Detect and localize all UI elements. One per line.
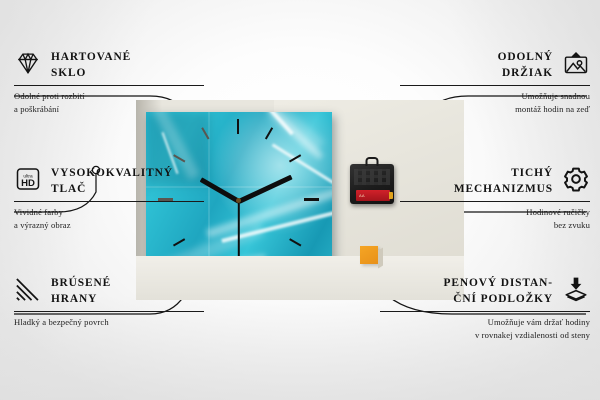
- feature-rule: [14, 311, 204, 312]
- picture-hanger-icon: [562, 49, 590, 77]
- feature-rule: [400, 201, 590, 202]
- feature-durable-hanger: ODOLNÝ DRŽIAK Umožňuje snadnou montáž ho…: [400, 48, 590, 116]
- feature-foam-spacers: PENOVÝ DISTAN- ČNÍ PODLOŽKY Umožňuje vám…: [380, 274, 590, 342]
- feature-rule: [14, 201, 204, 202]
- feature-title: PENOVÝ DISTAN- ČNÍ PODLOŽKY: [443, 274, 553, 307]
- feature-title: TICHÝ MECHANIZMUS: [454, 164, 553, 197]
- feature-high-quality-print: ultra HD VYSOKOKVALITNÝ TLAČ Vividné far…: [14, 164, 204, 232]
- feature-desc: Umožňuje vám držať hodiny v rovnakej vzd…: [380, 316, 590, 342]
- feature-silent-mechanism: TICHÝ MECHANIZMUS Hodinové ručičky bez z…: [400, 164, 590, 232]
- gear-icon: [562, 165, 590, 193]
- feature-desc: Hodinové ručičky bez zvuku: [400, 206, 590, 232]
- hand-pin: [236, 198, 241, 203]
- feature-brushed-edges: BRÚSENÉ HRANY Hladký a bezpečný povrch: [14, 274, 204, 329]
- foam-spacer-icon: [562, 275, 590, 303]
- foam-spacer-pad: [360, 246, 378, 264]
- battery-terminal: [389, 192, 393, 199]
- infographic-canvas: AA HARTOVANÉ SKLO Odolné proti rozbití a…: [0, 0, 600, 400]
- hour-hand: [200, 177, 241, 203]
- feature-desc: Vividné farby a výrazný obraz: [14, 206, 204, 232]
- feature-title: HARTOVANÉ SKLO: [51, 48, 131, 81]
- mechanism-texture: [354, 169, 390, 185]
- feature-rule: [380, 311, 590, 312]
- feature-title: VYSOKOKVALITNÝ TLAČ: [51, 164, 173, 197]
- ultra-hd-badge-icon: ultra HD: [14, 165, 42, 193]
- foam-spacer-side: [378, 248, 383, 269]
- feature-desc: Hladký a bezpečný povrch: [14, 316, 204, 329]
- feature-title: BRÚSENÉ HRANY: [51, 274, 111, 307]
- feature-tempered-glass: HARTOVANÉ SKLO Odolné proti rozbití a po…: [14, 48, 204, 116]
- feature-title: ODOLNÝ DRŽIAK: [498, 48, 553, 81]
- minute-hand: [238, 175, 293, 204]
- feature-rule: [14, 85, 204, 86]
- feature-desc: Umožňuje snadnou montáž hodin na zeď: [400, 90, 590, 116]
- svg-text:HD: HD: [21, 178, 35, 189]
- feature-desc: Odolné proti rozbití a poškrábání: [14, 90, 204, 116]
- feature-rule: [400, 85, 590, 86]
- mechanism-hanger: [366, 157, 379, 166]
- battery-label: AA: [359, 193, 365, 198]
- diamond-icon: [14, 49, 42, 77]
- battery: AA: [356, 190, 390, 201]
- brushed-edges-icon: [14, 275, 42, 303]
